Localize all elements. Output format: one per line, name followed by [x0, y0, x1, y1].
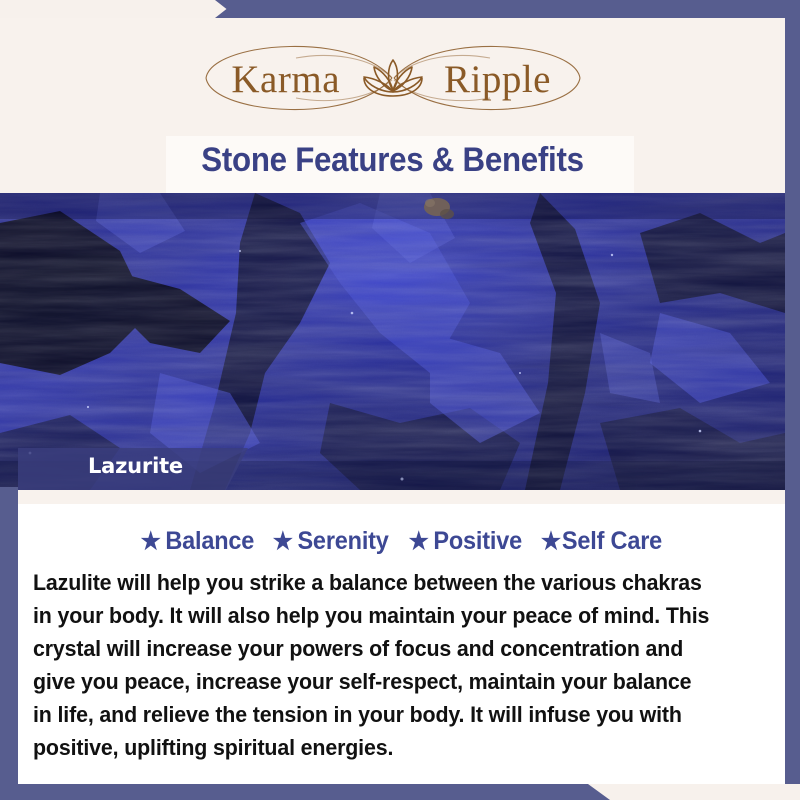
- benefit-label: Positive: [433, 527, 522, 556]
- benefit-label: Serenity: [298, 527, 389, 556]
- brand-logo[interactable]: Karma Ripple: [178, 40, 608, 116]
- star-icon: ★: [273, 530, 293, 554]
- benefit-tag-list: ★ Balance ★ Serenity ★ Positive ★ Self C…: [18, 527, 785, 556]
- stone-photo: [0, 193, 785, 490]
- benefit-tag-self-care[interactable]: ★ Self Care: [541, 527, 662, 556]
- benefit-tag-serenity[interactable]: ★ Serenity: [273, 527, 389, 556]
- benefit-label: Self Care: [562, 527, 662, 556]
- stone-photo-graphic: [0, 193, 785, 490]
- benefit-tag-balance[interactable]: ★ Balance: [140, 527, 254, 556]
- stone-name-label: Lazurite: [88, 454, 183, 478]
- benefit-tag-positive[interactable]: ★ Positive: [408, 527, 521, 556]
- frame-top-accent: [0, 0, 800, 18]
- frame-right-accent: [785, 0, 800, 800]
- brand-name-left: Karma: [231, 58, 340, 101]
- content-divider-strip: [18, 490, 785, 504]
- stone-info-card: Karma Ripple Stone Features & Benefits: [0, 0, 800, 800]
- brand-name-right: Ripple: [444, 58, 551, 101]
- page-title: Stone Features & Benefits: [31, 141, 753, 180]
- header-bar: Karma Ripple: [0, 18, 785, 122]
- star-icon: ★: [140, 530, 160, 554]
- benefit-label: Balance: [165, 527, 254, 556]
- frame-left-accent: [0, 487, 18, 800]
- brand-logo-graphic: Karma Ripple: [178, 40, 608, 116]
- star-icon: ★: [541, 530, 561, 554]
- stone-description: Lazulite will help you strike a balance …: [33, 566, 715, 764]
- star-icon: ★: [408, 530, 428, 554]
